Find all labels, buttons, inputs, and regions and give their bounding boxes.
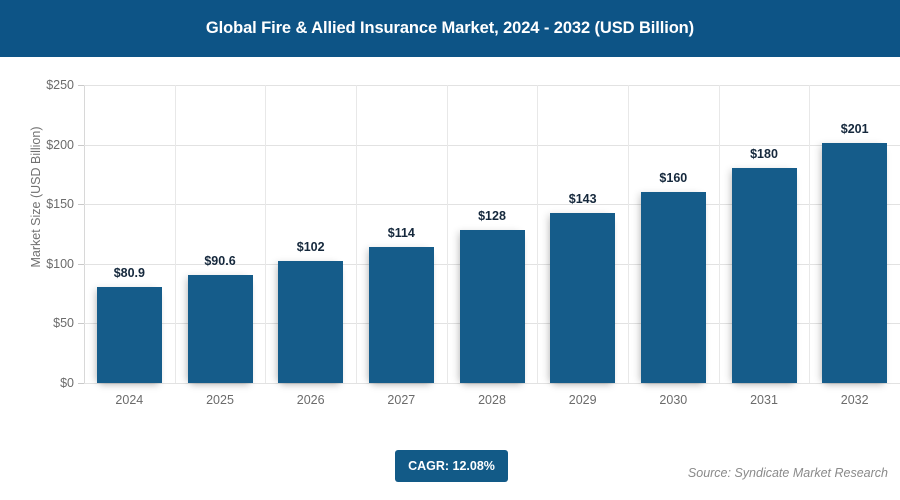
x-axis-tick-label: 2027: [387, 393, 415, 407]
bar-value-label: $114: [388, 226, 415, 240]
x-axis-tick-label: 2032: [841, 393, 869, 407]
bar[interactable]: [550, 213, 615, 383]
chart-card: Global Fire & Allied Insurance Market, 2…: [0, 0, 900, 500]
bar[interactable]: [641, 192, 706, 383]
x-axis-tick-label: 2025: [206, 393, 234, 407]
gridline-vertical: [356, 85, 357, 383]
x-axis-tick-label: 2029: [569, 393, 597, 407]
y-axis-tick-label: $0: [16, 376, 74, 390]
y-axis-tick-label: $50: [16, 316, 74, 330]
gridline-vertical: [265, 85, 266, 383]
x-axis-tick-label: 2030: [659, 393, 687, 407]
bar-column[interactable]: $90.6: [188, 85, 253, 383]
bar-column[interactable]: $143: [550, 85, 615, 383]
bar-value-label: $143: [569, 192, 597, 206]
gridline-horizontal: [84, 383, 900, 384]
bar-value-label: $201: [841, 122, 869, 136]
bar-column[interactable]: $102: [278, 85, 343, 383]
x-axis-tick-label: 2028: [478, 393, 506, 407]
gridline-vertical: [628, 85, 629, 383]
gridline-vertical: [719, 85, 720, 383]
x-axis-tick-label: 2024: [115, 393, 143, 407]
cagr-badge: CAGR: 12.08%: [395, 450, 508, 482]
chart-header-band: Global Fire & Allied Insurance Market, 2…: [0, 0, 900, 57]
bar[interactable]: [369, 247, 434, 383]
y-axis-tick-label: $250: [16, 78, 74, 92]
gridline-vertical: [809, 85, 810, 383]
bar-value-label: $90.6: [204, 254, 235, 268]
page-title: Global Fire & Allied Insurance Market, 2…: [206, 19, 694, 38]
bar-column[interactable]: $80.9: [97, 85, 162, 383]
x-axis-tick-label: 2026: [297, 393, 325, 407]
x-axis-tick-label: 2031: [750, 393, 778, 407]
bar[interactable]: [188, 275, 253, 383]
source-note: Source: Syndicate Market Research: [688, 466, 888, 480]
gridline-vertical: [175, 85, 176, 383]
bar[interactable]: [732, 168, 797, 383]
bar-value-label: $180: [750, 147, 778, 161]
bar-column[interactable]: $114: [369, 85, 434, 383]
y-axis-tick-label: $200: [16, 138, 74, 152]
bar[interactable]: [97, 287, 162, 383]
bar[interactable]: [822, 143, 887, 383]
bar-value-label: $102: [297, 240, 325, 254]
bar-value-label: $160: [659, 171, 687, 185]
gridline-vertical: [537, 85, 538, 383]
bar[interactable]: [460, 230, 525, 383]
bar[interactable]: [278, 261, 343, 383]
bar-value-label: $80.9: [114, 266, 145, 280]
bar-value-label: $128: [478, 209, 506, 223]
bar-column[interactable]: $128: [460, 85, 525, 383]
y-axis-tick-label: $150: [16, 197, 74, 211]
y-axis-tick-label: $100: [16, 257, 74, 271]
gridline-vertical: [447, 85, 448, 383]
bar-column[interactable]: $180: [732, 85, 797, 383]
bar-column[interactable]: $201: [822, 85, 887, 383]
plot-area: $80.9$90.6$102$114$128$143$160$180$201: [84, 85, 900, 383]
bar-column[interactable]: $160: [641, 85, 706, 383]
